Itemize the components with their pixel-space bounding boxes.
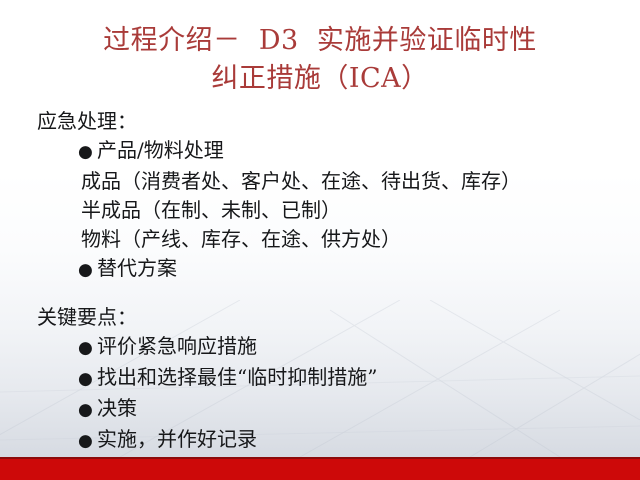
section-heading-emergency-handling: 应急处理： — [37, 106, 640, 136]
detail-line: 成品（消费者处、客户处、在途、待出货、库存） — [81, 167, 640, 196]
bullet-label: 找出和选择最佳“临时抑制措施” — [97, 363, 377, 392]
bullet-label: 决策 — [97, 394, 137, 423]
bullet-dot-icon: ● — [78, 138, 97, 167]
slide-title-line-2: 纠正措施（ICA） — [0, 60, 640, 98]
bullet-item: ● 替代方案 — [78, 254, 640, 285]
bullet-dot-icon: ● — [78, 396, 97, 425]
bullet-item: ● 产品/物料处理 — [78, 136, 640, 167]
section-heading-key-points: 关键要点： — [37, 302, 640, 332]
bullet-dot-icon: ● — [78, 334, 97, 363]
section-key-points: 关键要点： ● 评价紧急响应措施 ● 找出和选择最佳“临时抑制措施” ● 决策 … — [0, 302, 640, 480]
slide-title-line-1: 过程介绍－ D3 实施并验证临时性 — [0, 22, 640, 60]
detail-line: 半成品（在制、未制、已制） — [81, 196, 640, 225]
bottom-accent-bar — [0, 457, 640, 480]
bullet-label: 产品/物料处理 — [97, 136, 224, 165]
bullet-item: ● 评价紧急响应措施 — [78, 332, 640, 363]
bullet-dot-icon: ● — [78, 256, 97, 285]
slide-title: 过程介绍－ D3 实施并验证临时性 纠正措施（ICA） — [0, 22, 640, 98]
bullet-item: ● 找出和选择最佳“临时抑制措施” — [78, 363, 640, 394]
bullet-label: 评价紧急响应措施 — [97, 332, 257, 361]
bullet-item: ● 实施，并作好记录 — [78, 425, 640, 456]
bullet-label: 替代方案 — [97, 254, 177, 283]
bullet-dot-icon: ● — [78, 427, 97, 456]
slide-canvas: 过程介绍－ D3 实施并验证临时性 纠正措施（ICA） 应急处理： ● 产品/物… — [0, 0, 640, 480]
section-emergency-handling: 应急处理： ● 产品/物料处理 成品（消费者处、客户处、在途、待出货、库存） 半… — [0, 106, 640, 285]
bullet-label: 实施，并作好记录 — [97, 425, 257, 454]
slide-body: 应急处理： ● 产品/物料处理 成品（消费者处、客户处、在途、待出货、库存） 半… — [0, 106, 640, 480]
detail-line: 物料（产线、库存、在途、供方处） — [81, 225, 640, 254]
bullet-dot-icon: ● — [78, 365, 97, 394]
bullet-item: ● 决策 — [78, 394, 640, 425]
section-spacer — [0, 285, 640, 302]
